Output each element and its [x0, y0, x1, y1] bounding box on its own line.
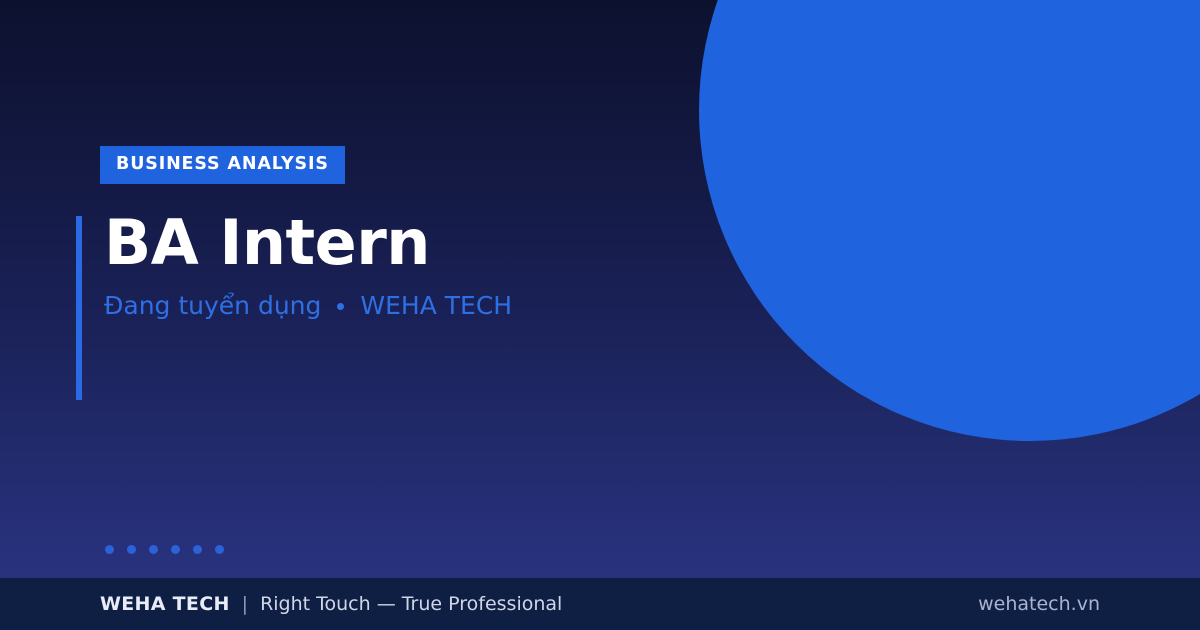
company-name-label: WEHA TECH	[360, 291, 512, 321]
footer-website-label: wehatech.vn	[978, 593, 1100, 615]
accent-bar	[76, 216, 82, 400]
category-badge: BUSINESS ANALYSIS	[100, 146, 345, 184]
job-status-label: Đang tuyển dụng	[104, 291, 321, 321]
dots-decoration	[105, 545, 224, 554]
decorative-circle	[699, 0, 1200, 441]
dot-icon	[127, 545, 136, 554]
job-title: BA Intern	[104, 210, 704, 275]
job-subtitle: Đang tuyển dụng WEHA TECH	[104, 291, 704, 321]
bullet-separator-icon	[337, 303, 344, 310]
footer-divider: |	[242, 593, 248, 615]
dot-icon	[171, 545, 180, 554]
footer-tagline-label: Right Touch — True Professional	[260, 593, 562, 615]
footer-bar: WEHA TECH | Right Touch — True Professio…	[0, 578, 1200, 630]
title-block: BA Intern Đang tuyển dụng WEHA TECH	[104, 210, 704, 321]
category-badge-label: BUSINESS ANALYSIS	[116, 156, 329, 174]
job-banner: BUSINESS ANALYSIS BA Intern Đang tuyển d…	[0, 0, 1200, 630]
dot-icon	[193, 545, 202, 554]
footer-left-group: WEHA TECH | Right Touch — True Professio…	[100, 593, 562, 615]
footer-brand-label: WEHA TECH	[100, 593, 230, 615]
dot-icon	[105, 545, 114, 554]
dot-icon	[215, 545, 224, 554]
dot-icon	[149, 545, 158, 554]
